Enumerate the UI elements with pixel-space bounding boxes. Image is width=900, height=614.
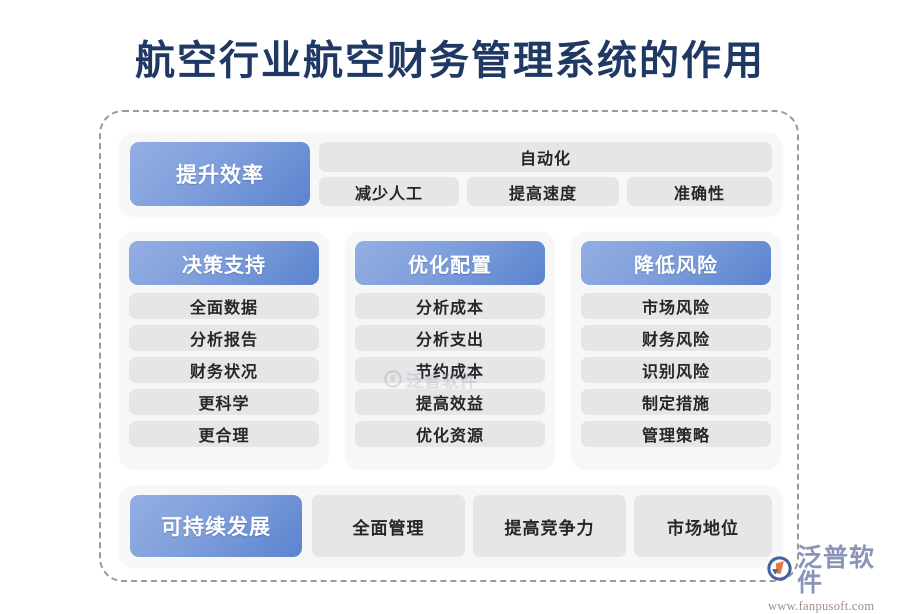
item-reduce-manual[interactable]: 减少人工 xyxy=(319,177,459,206)
list-item[interactable]: 分析成本 xyxy=(355,293,545,319)
item-automation[interactable]: 自动化 xyxy=(319,142,772,172)
brand-name: 泛普软件 xyxy=(797,546,896,596)
category-header-optimize-allocation[interactable]: 优化配置 xyxy=(355,241,545,285)
item-market-position[interactable]: 市场地位 xyxy=(634,495,772,557)
list-item[interactable]: 更合理 xyxy=(129,421,319,447)
column-card-optimize-allocation: 优化配置 分析成本 分析支出 节约成本 提高效益 优化资源 xyxy=(346,232,554,468)
item-accuracy[interactable]: 准确性 xyxy=(627,177,772,206)
row-efficiency-card: 提升效率 自动化 减少人工 提高速度 准确性 xyxy=(120,133,782,215)
brand-logo: 泛普软件 www.fanpusoft.com xyxy=(766,546,896,592)
list-item[interactable]: 分析支出 xyxy=(355,325,545,351)
row-sustainable-development-card: 可持续发展 全面管理 提高竞争力 市场地位 xyxy=(120,486,782,566)
list-item[interactable]: 全面数据 xyxy=(129,293,319,319)
column-card-decision-support: 决策支持 全面数据 分析报告 财务状况 更科学 更合理 xyxy=(120,232,328,468)
list-item[interactable]: 提高效益 xyxy=(355,389,545,415)
list-item[interactable]: 制定措施 xyxy=(581,389,771,415)
brand-url: www.fanpusoft.com xyxy=(768,599,896,614)
category-header-efficiency[interactable]: 提升效率 xyxy=(130,142,310,206)
list-item[interactable]: 分析报告 xyxy=(129,325,319,351)
item-comprehensive-management[interactable]: 全面管理 xyxy=(312,495,465,557)
category-header-decision-support[interactable]: 决策支持 xyxy=(129,241,319,285)
list-item[interactable]: 财务状况 xyxy=(129,357,319,383)
page-title: 航空行业航空财务管理系统的作用 xyxy=(0,28,900,86)
item-improve-competitiveness[interactable]: 提高竞争力 xyxy=(473,495,626,557)
list-item[interactable]: 财务风险 xyxy=(581,325,771,351)
fanpu-logo-icon xyxy=(766,555,793,587)
list-item[interactable]: 市场风险 xyxy=(581,293,771,319)
brand-logo-row: 泛普软件 xyxy=(766,546,896,596)
list-item[interactable]: 管理策略 xyxy=(581,421,771,447)
list-item[interactable]: 节约成本 xyxy=(355,357,545,383)
column-card-reduce-risk: 降低风险 市场风险 财务风险 识别风险 制定措施 管理策略 xyxy=(572,232,780,468)
list-item[interactable]: 更科学 xyxy=(129,389,319,415)
list-item[interactable]: 识别风险 xyxy=(581,357,771,383)
list-item[interactable]: 优化资源 xyxy=(355,421,545,447)
item-increase-speed[interactable]: 提高速度 xyxy=(467,177,619,206)
category-header-sustainable-development[interactable]: 可持续发展 xyxy=(130,495,302,557)
category-header-reduce-risk[interactable]: 降低风险 xyxy=(581,241,771,285)
